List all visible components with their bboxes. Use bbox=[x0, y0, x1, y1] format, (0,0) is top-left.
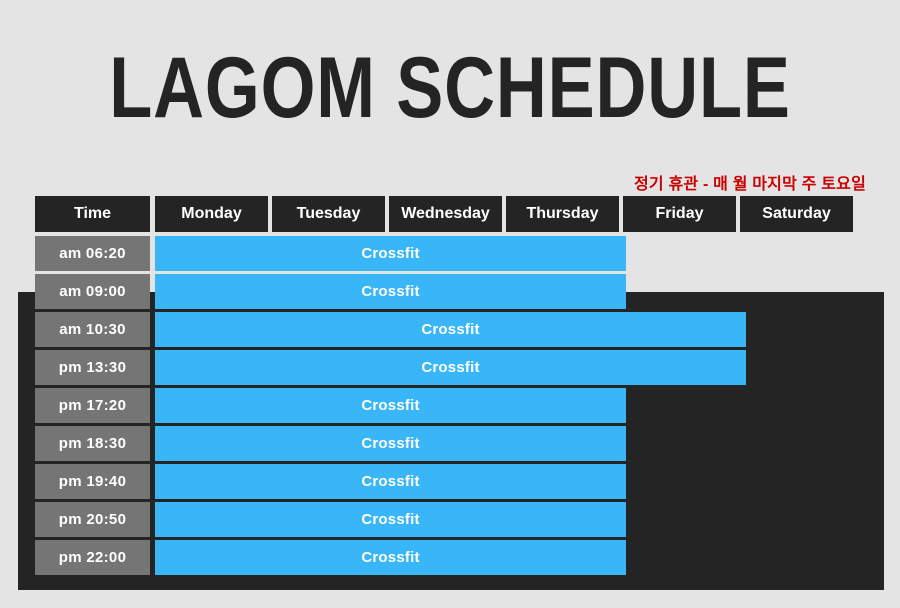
column-header-wed: Wednesday bbox=[389, 196, 502, 232]
table-row: pm 20:50Crossfit bbox=[35, 502, 865, 537]
table-row: am 10:30Crossfit bbox=[35, 312, 865, 347]
column-header-sat: Saturday bbox=[740, 196, 853, 232]
class-session-block[interactable]: Crossfit bbox=[155, 236, 626, 271]
column-header-time: Time bbox=[35, 196, 150, 232]
table-row: pm 13:30Crossfit bbox=[35, 350, 865, 385]
time-slot-cell: pm 22:00 bbox=[35, 540, 150, 575]
column-header-tue: Tuesday bbox=[272, 196, 385, 232]
table-header-row: TimeMondayTuesdayWednesdayThursdayFriday… bbox=[35, 196, 865, 232]
time-slot-cell: pm 19:40 bbox=[35, 464, 150, 499]
class-session-block[interactable]: Crossfit bbox=[155, 540, 626, 575]
class-session-block[interactable]: Crossfit bbox=[155, 312, 746, 347]
table-row: pm 17:20Crossfit bbox=[35, 388, 865, 423]
time-slot-cell: pm 13:30 bbox=[35, 350, 150, 385]
class-session-block[interactable]: Crossfit bbox=[155, 464, 626, 499]
time-slot-cell: pm 18:30 bbox=[35, 426, 150, 461]
schedule-table: TimeMondayTuesdayWednesdayThursdayFriday… bbox=[35, 196, 865, 576]
table-row: pm 22:00Crossfit bbox=[35, 540, 865, 575]
class-session-block[interactable]: Crossfit bbox=[155, 502, 626, 537]
class-session-block[interactable]: Crossfit bbox=[155, 388, 626, 423]
table-body: am 06:20Crossfitam 09:00Crossfitam 10:30… bbox=[35, 236, 865, 578]
page-title: LAGOM SCHEDULE bbox=[81, 40, 819, 136]
class-session-block[interactable]: Crossfit bbox=[155, 274, 626, 309]
class-session-block[interactable]: Crossfit bbox=[155, 350, 746, 385]
column-header-mon: Monday bbox=[155, 196, 268, 232]
table-row: pm 19:40Crossfit bbox=[35, 464, 865, 499]
time-slot-cell: pm 20:50 bbox=[35, 502, 150, 537]
time-slot-cell: pm 17:20 bbox=[35, 388, 150, 423]
table-row: pm 18:30Crossfit bbox=[35, 426, 865, 461]
column-header-fri: Friday bbox=[623, 196, 736, 232]
table-row: am 09:00Crossfit bbox=[35, 274, 865, 309]
class-session-block[interactable]: Crossfit bbox=[155, 426, 626, 461]
table-row: am 06:20Crossfit bbox=[35, 236, 865, 271]
column-header-thu: Thursday bbox=[506, 196, 619, 232]
closure-notice: 정기 휴관 - 매 월 마지막 주 토요일 bbox=[634, 170, 866, 194]
time-slot-cell: am 10:30 bbox=[35, 312, 150, 347]
time-slot-cell: am 09:00 bbox=[35, 274, 150, 309]
time-slot-cell: am 06:20 bbox=[35, 236, 150, 271]
